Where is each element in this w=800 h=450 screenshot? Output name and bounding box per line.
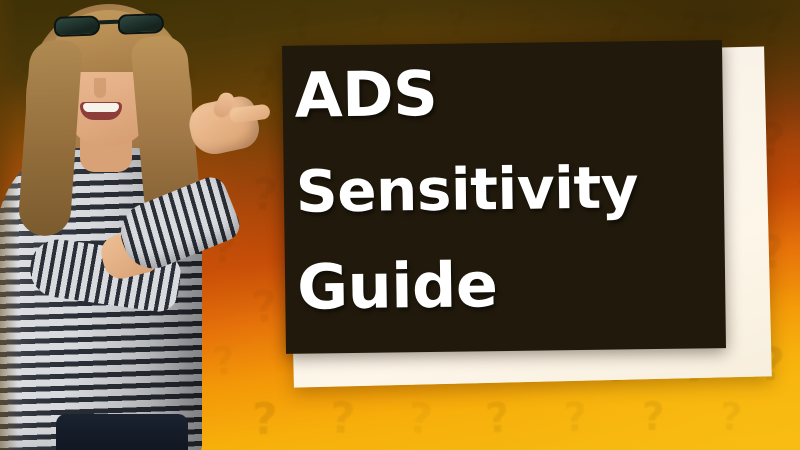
title-line-2: Sensitivity (295, 138, 716, 239)
nose (94, 78, 106, 98)
question-mark-glyph: ? (524, 6, 545, 41)
question-mark-glyph: ? (447, 6, 467, 41)
question-mark-glyph: ? (563, 397, 588, 438)
smiling-mouth (80, 102, 122, 120)
title-line-3: Guide (297, 234, 718, 335)
jeans (56, 414, 188, 450)
question-mark-glyph: ? (252, 398, 278, 442)
question-mark-glyph: ? (796, 173, 800, 212)
question-mark-glyph: ? (251, 61, 279, 106)
teeth (83, 103, 119, 112)
title-panel: ADS Sensitivity Guide (282, 40, 726, 354)
sunglass-lens-left (54, 15, 101, 37)
question-mark-glyph: ? (251, 173, 279, 218)
question-mark-glyph: ? (368, 5, 391, 42)
question-mark-glyph: ? (289, 5, 314, 44)
question-mark-glyph: ? (406, 397, 435, 441)
question-mark-glyph: ? (758, 5, 786, 51)
question-mark-glyph: ? (484, 397, 512, 440)
sunglass-lens-right (118, 13, 165, 35)
title-text-block: ADS Sensitivity Guide (294, 42, 718, 335)
presenter-photo (0, 0, 234, 450)
question-mark-glyph: ? (329, 397, 356, 441)
question-mark-glyph: ? (719, 397, 743, 436)
question-mark-glyph: ? (796, 397, 800, 436)
question-mark-glyph: ? (250, 285, 280, 331)
title-line-1: ADS (294, 42, 715, 143)
question-mark-glyph: ? (642, 398, 665, 437)
thumbnail-canvas: ????????????????????????????????????????… (0, 0, 800, 450)
sunglasses-icon (54, 12, 167, 40)
